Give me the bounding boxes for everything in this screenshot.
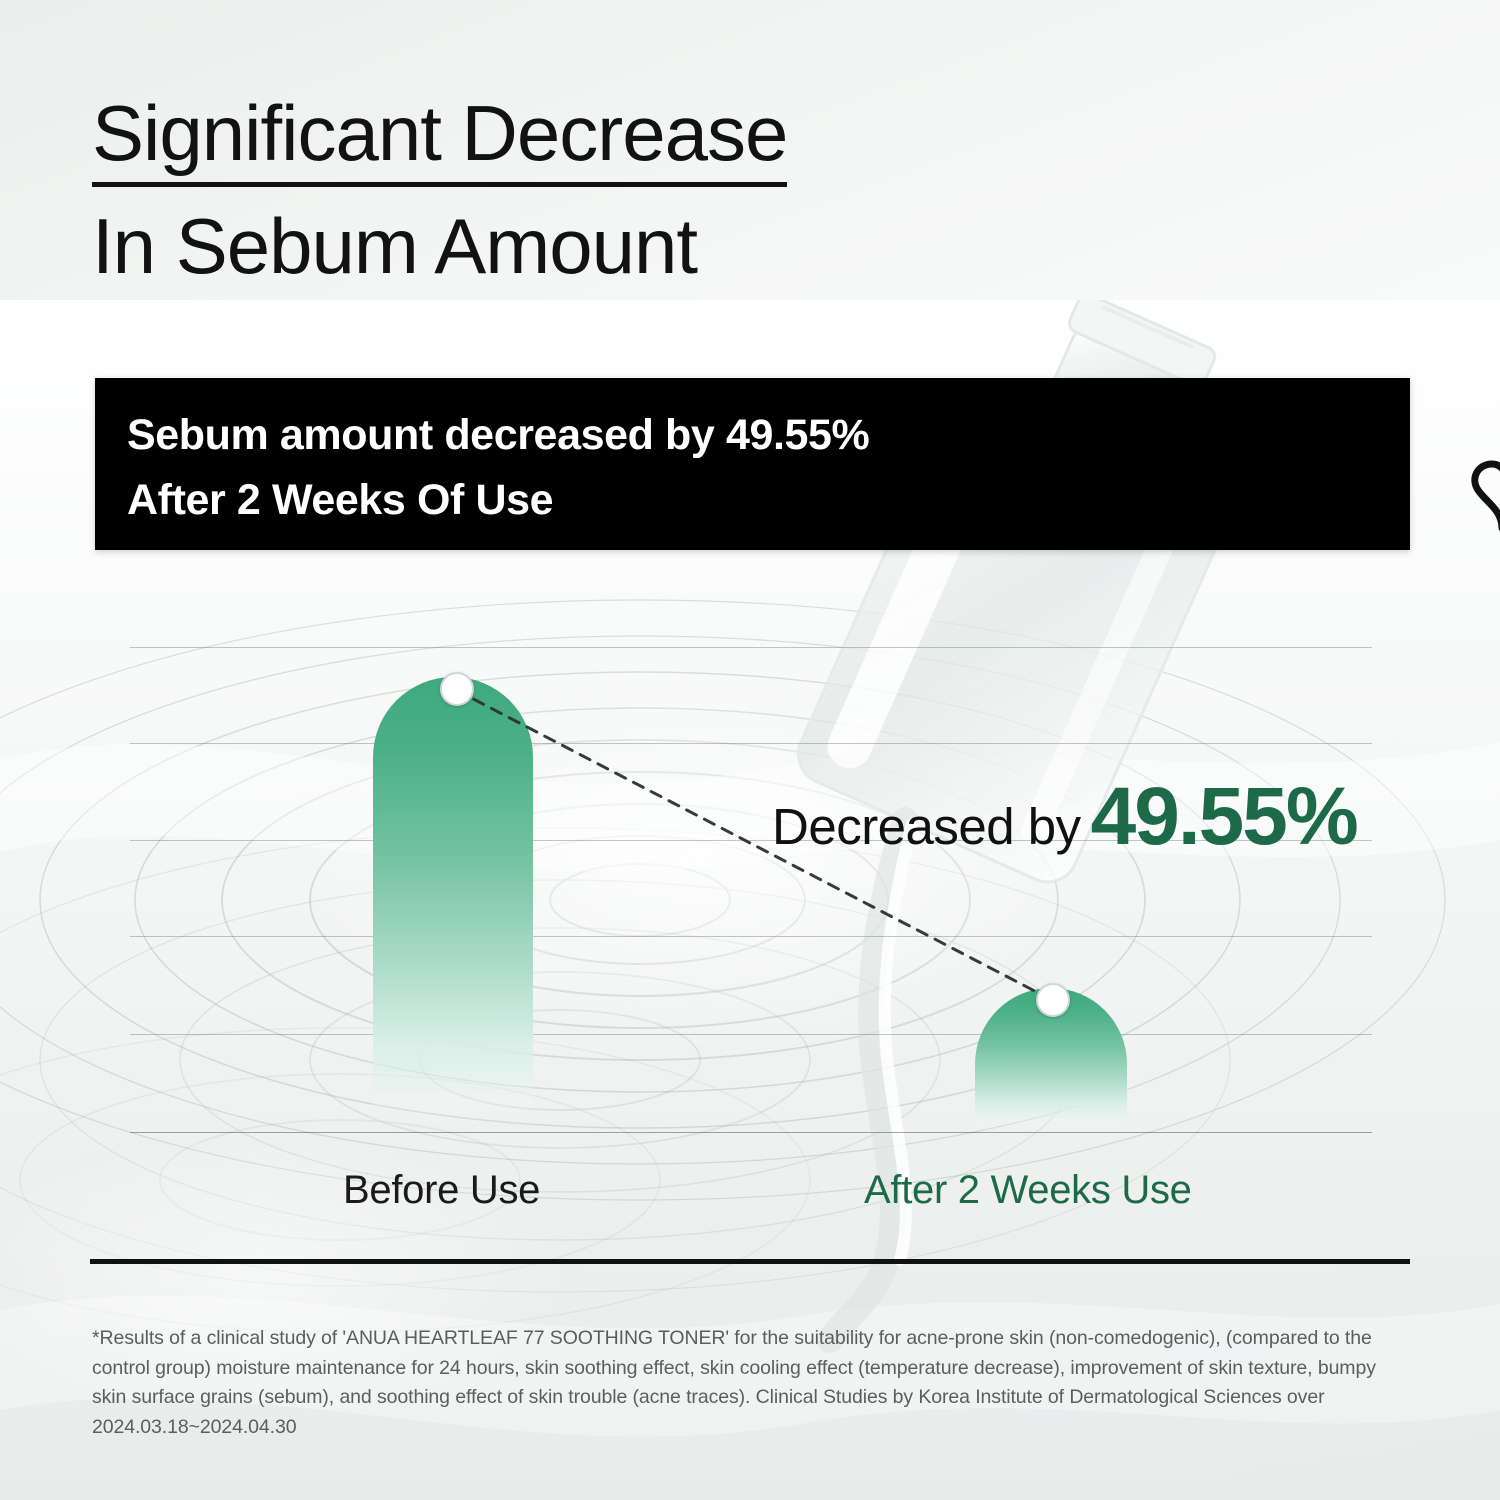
footer-divider — [90, 1259, 1410, 1264]
page-title-line-2: In Sebum Amount — [92, 201, 1192, 291]
infographic-root: Significant Decrease In Sebum Amount Seb… — [0, 0, 1500, 1500]
banner-line-1: Sebum amount decreased by 49.55% — [127, 411, 869, 460]
page-title-line-1: Significant Decrease — [92, 88, 787, 187]
footnote: *Results of a clinical study of 'ANUA HE… — [92, 1324, 1382, 1443]
page-title: Significant Decrease In Sebum Amount — [92, 88, 1192, 292]
footnote-text: *Results of a clinical study of 'ANUA HE… — [92, 1324, 1382, 1443]
heartleaf-icon — [1466, 458, 1500, 538]
banner-line-2: After 2 Weeks Of Use — [127, 476, 553, 525]
highlight-banner: Sebum amount decreased by 49.55% After 2… — [95, 378, 1410, 550]
